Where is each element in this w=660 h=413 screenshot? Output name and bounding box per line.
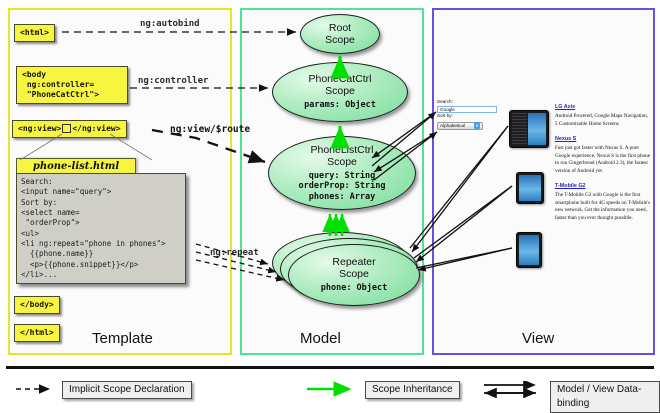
legend-implicit-scope-declaration: Implicit Scope Declaration: [14, 381, 192, 398]
html-open-tag-chip: <html>: [14, 24, 55, 42]
repeater-scope-props: phone: Object: [321, 283, 388, 294]
chevron-down-icon: ▾: [474, 122, 480, 129]
sort-select[interactable]: Alphabetical ▾: [437, 122, 483, 130]
dashed-arrow-icon: [14, 381, 60, 398]
view-search-form: Search: Google Sort by: Alphabetical ▾: [437, 99, 499, 130]
phonelistctrl-scope-title: PhoneListCtrlScope: [310, 144, 373, 168]
phone-list-template-callout: phone-list.html Search: <input name="que…: [16, 158, 186, 284]
list-item: LG Axis Android Powered, Google Maps Nav…: [555, 104, 651, 128]
edge-label-ng-controller: ng:controller: [138, 76, 208, 86]
phonelistctrl-scope-node: PhoneListCtrlScope query: StringorderPro…: [268, 136, 416, 210]
callout-filename-label: phone-list.html: [16, 158, 136, 173]
legend-data-binding: Model / View Data-binding: [480, 381, 660, 398]
phone-thumbnail-t-mobile-g2: [516, 232, 542, 268]
edge-label-ng-view-route: ng:view/$route: [170, 124, 250, 135]
ng-view-tag-chip: <ng:view></ng:view>: [12, 120, 127, 138]
phonecatctrl-scope-props: params: Object: [304, 100, 376, 111]
solid-arrow-icon: [305, 381, 363, 398]
ng-view-close-label: </ng:view>: [72, 124, 120, 133]
legend-label: Implicit Scope Declaration: [62, 381, 192, 399]
search-label: Search:: [437, 99, 499, 106]
search-input[interactable]: Google: [437, 106, 497, 113]
ng-view-content-placeholder-icon: [62, 124, 71, 133]
body-close-tag-chip: </body>: [14, 296, 60, 314]
list-item: T-Mobile G2 The T-Mobile G2 with Google …: [555, 183, 651, 222]
phone-snippet: Fast just got faster with Nexus S. A pur…: [555, 145, 651, 175]
phonecatctrl-scope-title: PhoneCatCtrlScope: [308, 73, 371, 97]
sort-label: Sort by:: [437, 113, 499, 120]
body-controller-tag-chip: <body ng:controller= "PhoneCatCtrl">: [16, 66, 128, 104]
callout-code-block: Search: <input name="query"> Sort by: <s…: [16, 173, 186, 284]
root-scope-node: RootScope: [300, 14, 380, 54]
legend-label: Model / View Data-binding: [550, 381, 660, 413]
phonelistctrl-scope-props: query: StringorderProp: Stringphones: Ar…: [299, 171, 386, 203]
phone-name-link[interactable]: Nexus S: [555, 136, 651, 142]
legend-scope-inheritance: Scope Inheritance: [305, 381, 460, 398]
phone-snippet: Android Powered, Google Maps Navigation,…: [555, 113, 651, 128]
column-label-template: Template: [92, 330, 153, 347]
double-arrow-icon: [480, 381, 548, 398]
repeater-scope-title: RepeaterScope: [332, 256, 375, 280]
diagram-canvas: Template Model View <html> <body ng:cont…: [0, 0, 660, 405]
phone-name-link[interactable]: T-Mobile G2: [555, 183, 651, 189]
phone-listing: LG Axis Android Powered, Google Maps Nav…: [555, 104, 651, 230]
root-scope-title: RootScope: [325, 22, 355, 46]
legend-divider: [6, 366, 654, 369]
list-item: Nexus S Fast just got faster with Nexus …: [555, 136, 651, 175]
column-label-model: Model: [300, 330, 341, 347]
repeater-scope-node: RepeaterScope phone: Object: [288, 244, 420, 306]
phone-snippet: The T-Mobile G2 with Google is the first…: [555, 192, 651, 222]
phonecatctrl-scope-node: PhoneCatCtrlScope params: Object: [272, 62, 408, 122]
edge-label-ng-autobind: ng:autobind: [140, 19, 200, 29]
phone-thumbnail-lg-axis: [509, 110, 549, 148]
sort-select-value: Alphabetical: [440, 123, 465, 128]
ng-view-open-label: <ng:view>: [18, 124, 61, 133]
phone-thumbnail-nexus-s: [516, 172, 544, 204]
column-label-view: View: [522, 330, 554, 347]
html-close-tag-chip: </html>: [14, 324, 60, 342]
edge-label-ng-repeat: ng:repeat: [210, 248, 259, 258]
phone-name-link[interactable]: LG Axis: [555, 104, 651, 110]
legend-label: Scope Inheritance: [365, 381, 460, 399]
